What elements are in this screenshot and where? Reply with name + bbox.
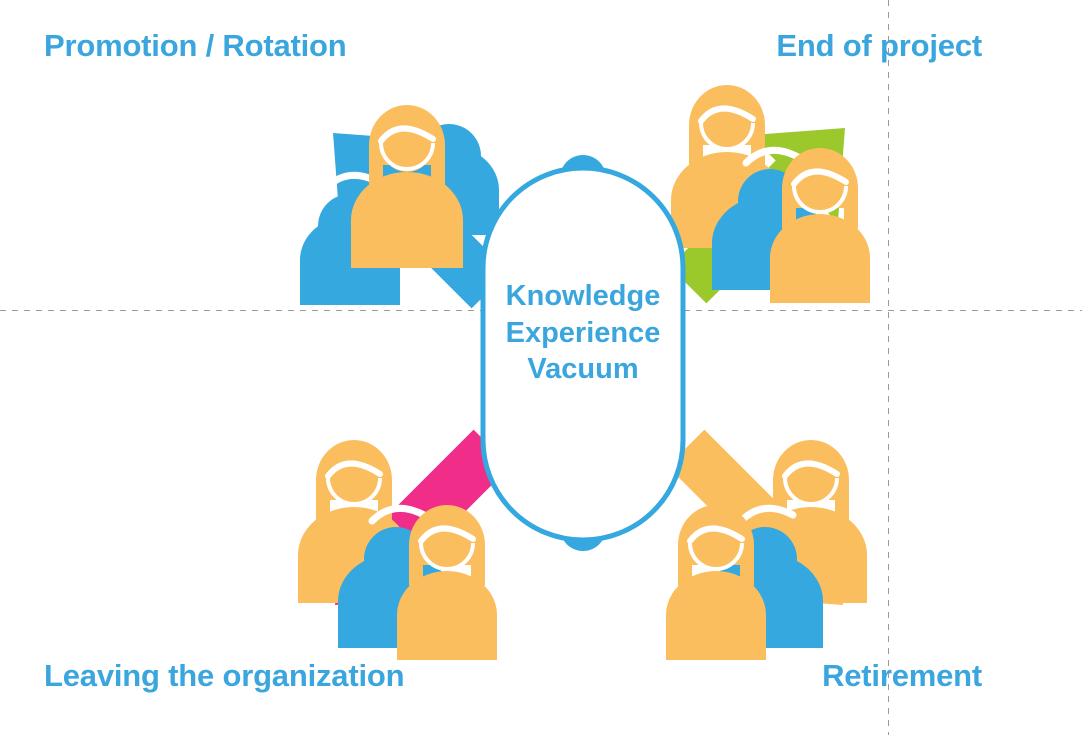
center-text-line-2: Experience xyxy=(483,315,683,352)
label-leaving-the-organization: Leaving the organization xyxy=(44,660,404,691)
label-retirement: Retirement xyxy=(822,660,982,691)
center-text-line-3: Vacuum xyxy=(483,351,683,388)
label-promotion-rotation: Promotion / Rotation xyxy=(44,30,347,61)
center-capsule-text: Knowledge Experience Vacuum xyxy=(483,278,683,388)
label-end-of-project: End of project xyxy=(776,30,982,61)
diagram-canvas: Knowledge Experience Vacuum Promotion / … xyxy=(0,0,1082,735)
center-text-line-1: Knowledge xyxy=(483,278,683,315)
diagram-stage: Knowledge Experience Vacuum Promotion / … xyxy=(0,0,1082,735)
